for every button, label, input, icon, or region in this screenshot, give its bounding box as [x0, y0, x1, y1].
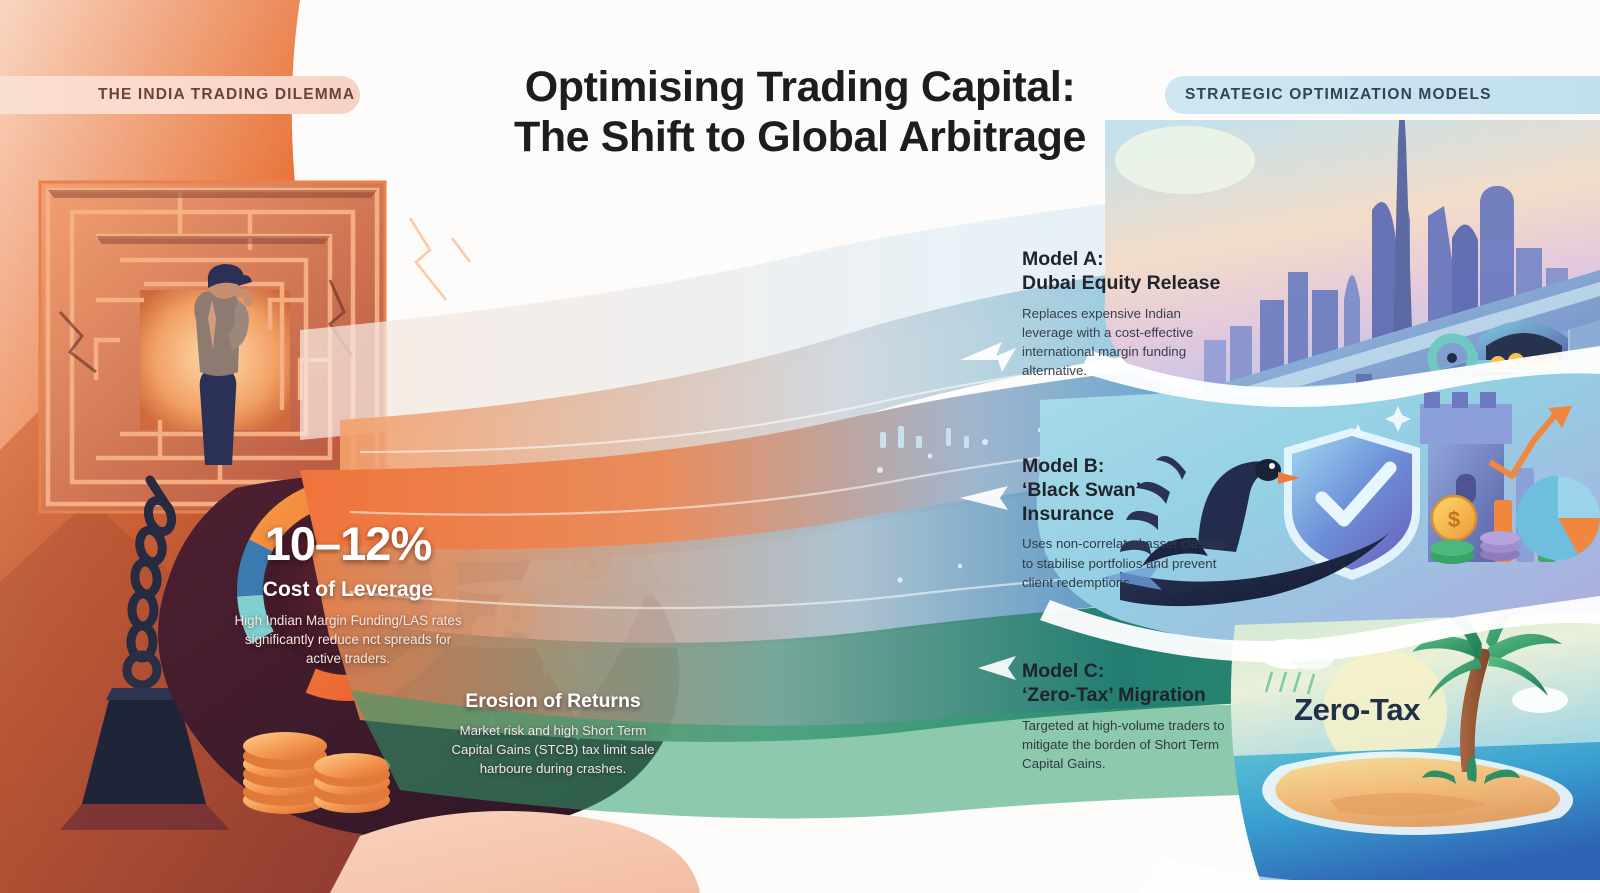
island-zero-tax-label: Zero-Tax	[1294, 692, 1420, 728]
model-a-title-line-2: Dubai Equity Release	[1022, 272, 1234, 296]
infographic-canvas: $ $ $	[0, 0, 1600, 893]
stat-cost-of-leverage: 10–12% Cost of Leverage High Indian Marg…	[232, 520, 464, 668]
page-title: Optimising Trading Capital: The Shift to…	[430, 62, 1170, 163]
stat-label: Cost of Leverage	[232, 578, 464, 602]
block-erosion-of-returns: Erosion of Returns Market risk and high …	[440, 690, 666, 778]
model-c-block: Model C: ‘Zero-Tax’ Migration Targeted a…	[1022, 660, 1234, 773]
model-b-block: Model B: ‘Black Swan’ Insurance Uses non…	[1022, 455, 1234, 592]
coin-stack-short	[314, 753, 390, 813]
model-b-title-line-1: Model B:	[1022, 455, 1234, 479]
model-c-title-line-2: ‘Zero-Tax’ Migration	[1022, 684, 1234, 708]
model-a-block: Model A: Dubai Equity Release Replaces e…	[1022, 248, 1234, 381]
svg-text:$: $	[1448, 507, 1460, 532]
badge-strategic-models: STRATEGIC OPTIMIZATION MODELS	[1165, 76, 1600, 114]
badge-india-dilemma: THE INDIA TRADING DILEMMA	[0, 76, 360, 114]
pie-chart	[1516, 476, 1600, 560]
erosion-label: Erosion of Returns	[440, 690, 666, 713]
model-a-title-line-1: Model A:	[1022, 248, 1234, 272]
model-a-title: Model A: Dubai Equity Release	[1022, 248, 1234, 296]
model-c-description: Targeted at high-volume traders to mitig…	[1022, 716, 1234, 774]
title-line-2: The Shift to Global Arbitrage	[430, 112, 1170, 162]
title-line-1: Optimising Trading Capital:	[430, 62, 1170, 112]
stat-value: 10–12%	[232, 520, 464, 567]
model-c-title-line-1: Model C:	[1022, 660, 1234, 684]
model-c-title: Model C: ‘Zero-Tax’ Migration	[1022, 660, 1234, 708]
stat-description: High Indian Margin Funding/LAS rates sig…	[232, 611, 464, 668]
erosion-description: Market risk and high Short Term Capital …	[440, 721, 666, 778]
model-b-description: Uses non-correlated asset classes to sta…	[1022, 534, 1234, 592]
model-b-title-line-2: ‘Black Swan’ Insurance	[1022, 479, 1234, 527]
model-a-description: Replaces expensive Indian leverage with …	[1022, 304, 1234, 381]
model-b-title: Model B: ‘Black Swan’ Insurance	[1022, 455, 1234, 526]
